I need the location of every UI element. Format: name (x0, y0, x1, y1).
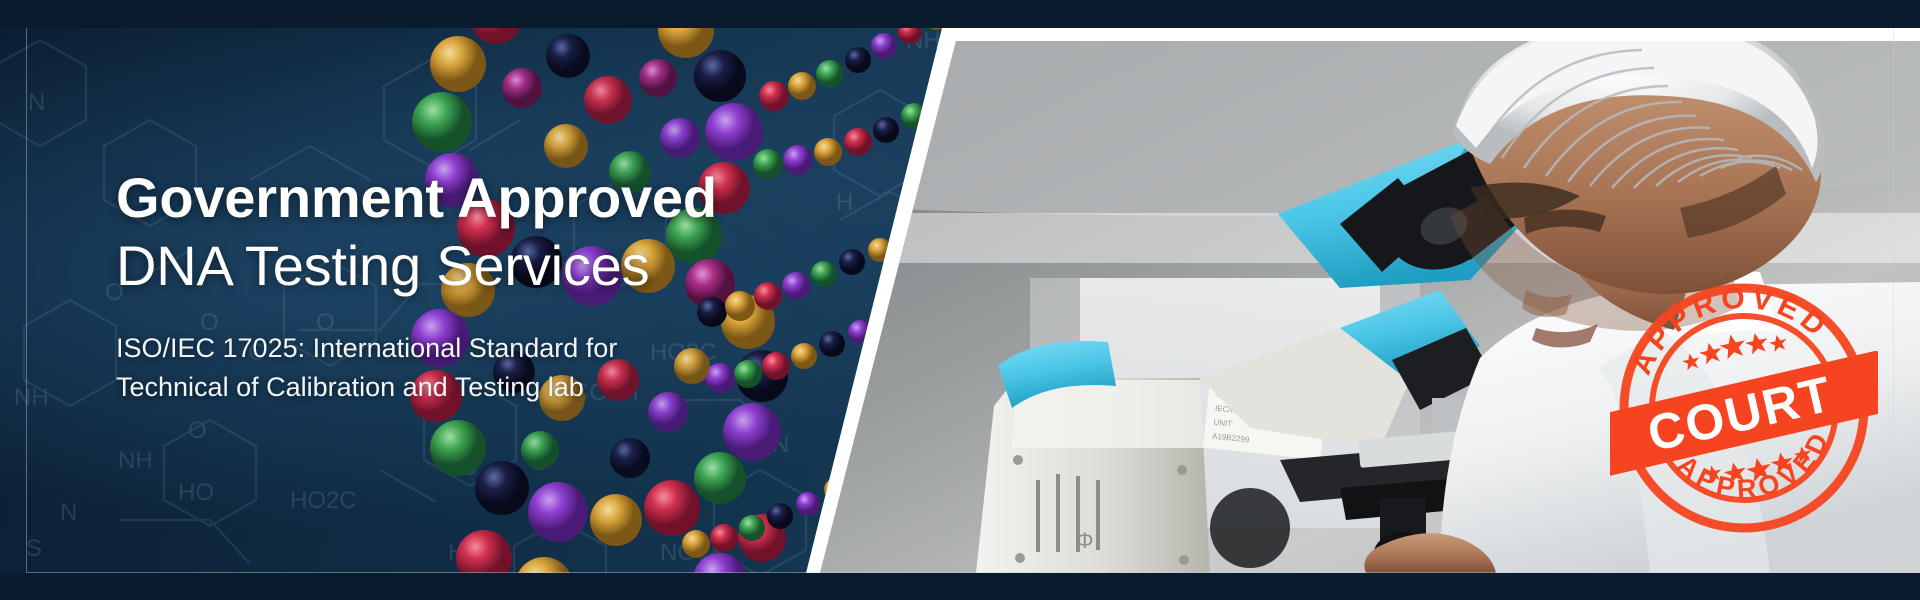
svg-text:Φ: Φ (1076, 528, 1094, 553)
svg-text:NH: NH (14, 384, 49, 411)
subtitle-line-2: Technical of Calibration and Testing lab (116, 368, 876, 406)
svg-text:HO2C: HO2C (290, 487, 357, 514)
svg-text:O: O (680, 129, 699, 156)
subtitle-line-1: ISO/IEC 17025: International Standard fo… (116, 329, 876, 367)
headline-line-2: DNA Testing Services (116, 233, 876, 299)
bottom-edge-bar (0, 573, 1920, 600)
lab-photo: Φ OLYMPUS BX-53M AXIO IEC/ISO 17025 CERT… (780, 28, 1920, 573)
promo-banner: N NH N NH S O O O O C HO HO2C H C C CO2H… (0, 0, 1920, 600)
banner-copy: Government Approved DNA Testing Services… (116, 168, 876, 406)
svg-text:N: N (28, 89, 45, 116)
svg-text:C: C (530, 449, 547, 476)
svg-text:N: N (772, 431, 789, 458)
top-edge-bar (0, 0, 1920, 28)
svg-text:H2N: H2N (448, 539, 496, 566)
banner-subtitle: ISO/IEC 17025: International Standard fo… (116, 329, 876, 406)
svg-text:S: S (26, 535, 42, 562)
svg-text:N: N (560, 49, 577, 76)
svg-text:C: C (460, 454, 477, 481)
svg-text:O: O (188, 417, 207, 444)
svg-text:N: N (60, 499, 77, 526)
headline-line-1: Government Approved (116, 168, 876, 227)
svg-text:NH: NH (118, 447, 153, 474)
svg-text:NO: NO (660, 539, 696, 566)
svg-text:HO: HO (178, 479, 214, 506)
lab-photo-panel: Φ OLYMPUS BX-53M AXIO IEC/ISO 17025 CERT… (780, 28, 1920, 573)
